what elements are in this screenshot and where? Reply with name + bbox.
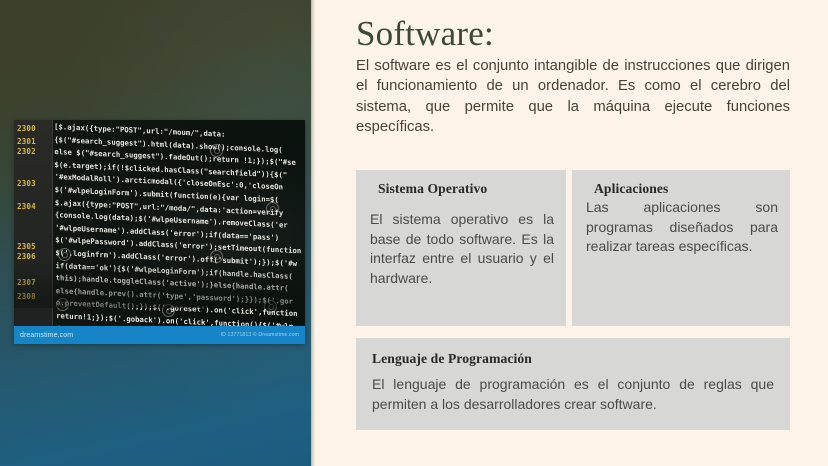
line-number: 2300	[17, 124, 36, 133]
dreamstime-watermark-bar: dreamstime.com ID 13771813 © Dreamstime.…	[14, 326, 305, 344]
code-text-block: [$.ajax({type:"POST",url:"/moum/",data: …	[54, 121, 305, 326]
card-body: El lenguaje de programación es el conjun…	[372, 375, 774, 414]
card-lenguaje-de-programacion: Lenguaje de Programación El lenguaje de …	[356, 338, 790, 430]
left-gradient-panel: 2300 2301 2302 2303 2304 2305 2306 2307 …	[0, 0, 311, 466]
line-number: 2307	[17, 278, 36, 287]
line-number: 2306	[17, 252, 36, 261]
card-aplicaciones: Aplicaciones Las aplicaciones son progra…	[572, 170, 790, 326]
card-title: Aplicaciones	[594, 180, 778, 197]
card-title: Sistema Operativo	[378, 180, 554, 197]
watermark-id-label: ID 13771813 © Dreamstime.com	[221, 332, 299, 338]
watermark-site-label: dreamstime.com	[20, 332, 73, 339]
card-body: El sistema operativo es la base de todo …	[370, 210, 554, 288]
card-title: Lenguaje de Programación	[372, 350, 774, 367]
page-title: Software:	[356, 14, 494, 54]
card-body: Las aplicaciones son programas diseñados…	[586, 198, 778, 257]
content-area: Software: El software es el conjunto int…	[356, 0, 792, 466]
card-sistema-operativo: Sistema Operativo El sistema operativo e…	[356, 170, 566, 326]
panel-divider	[311, 0, 315, 466]
line-number: 2301	[17, 137, 36, 146]
line-number: 2303	[17, 179, 36, 188]
code-line-number-gutter: 2300 2301 2302 2303 2304 2305 2306 2307 …	[14, 120, 53, 326]
code-editor-surface: 2300 2301 2302 2303 2304 2305 2306 2307 …	[14, 120, 305, 326]
code-screenshot-image: 2300 2301 2302 2303 2304 2305 2306 2307 …	[14, 120, 305, 344]
line-number: 2308	[17, 292, 36, 301]
slide-canvas: 2300 2301 2302 2303 2304 2305 2306 2307 …	[0, 0, 828, 466]
intro-paragraph: El software es el conjunto intangible de…	[356, 56, 790, 138]
line-number: 2304	[17, 202, 36, 211]
line-number: 2302	[17, 147, 36, 156]
line-number: 2305	[17, 242, 36, 251]
